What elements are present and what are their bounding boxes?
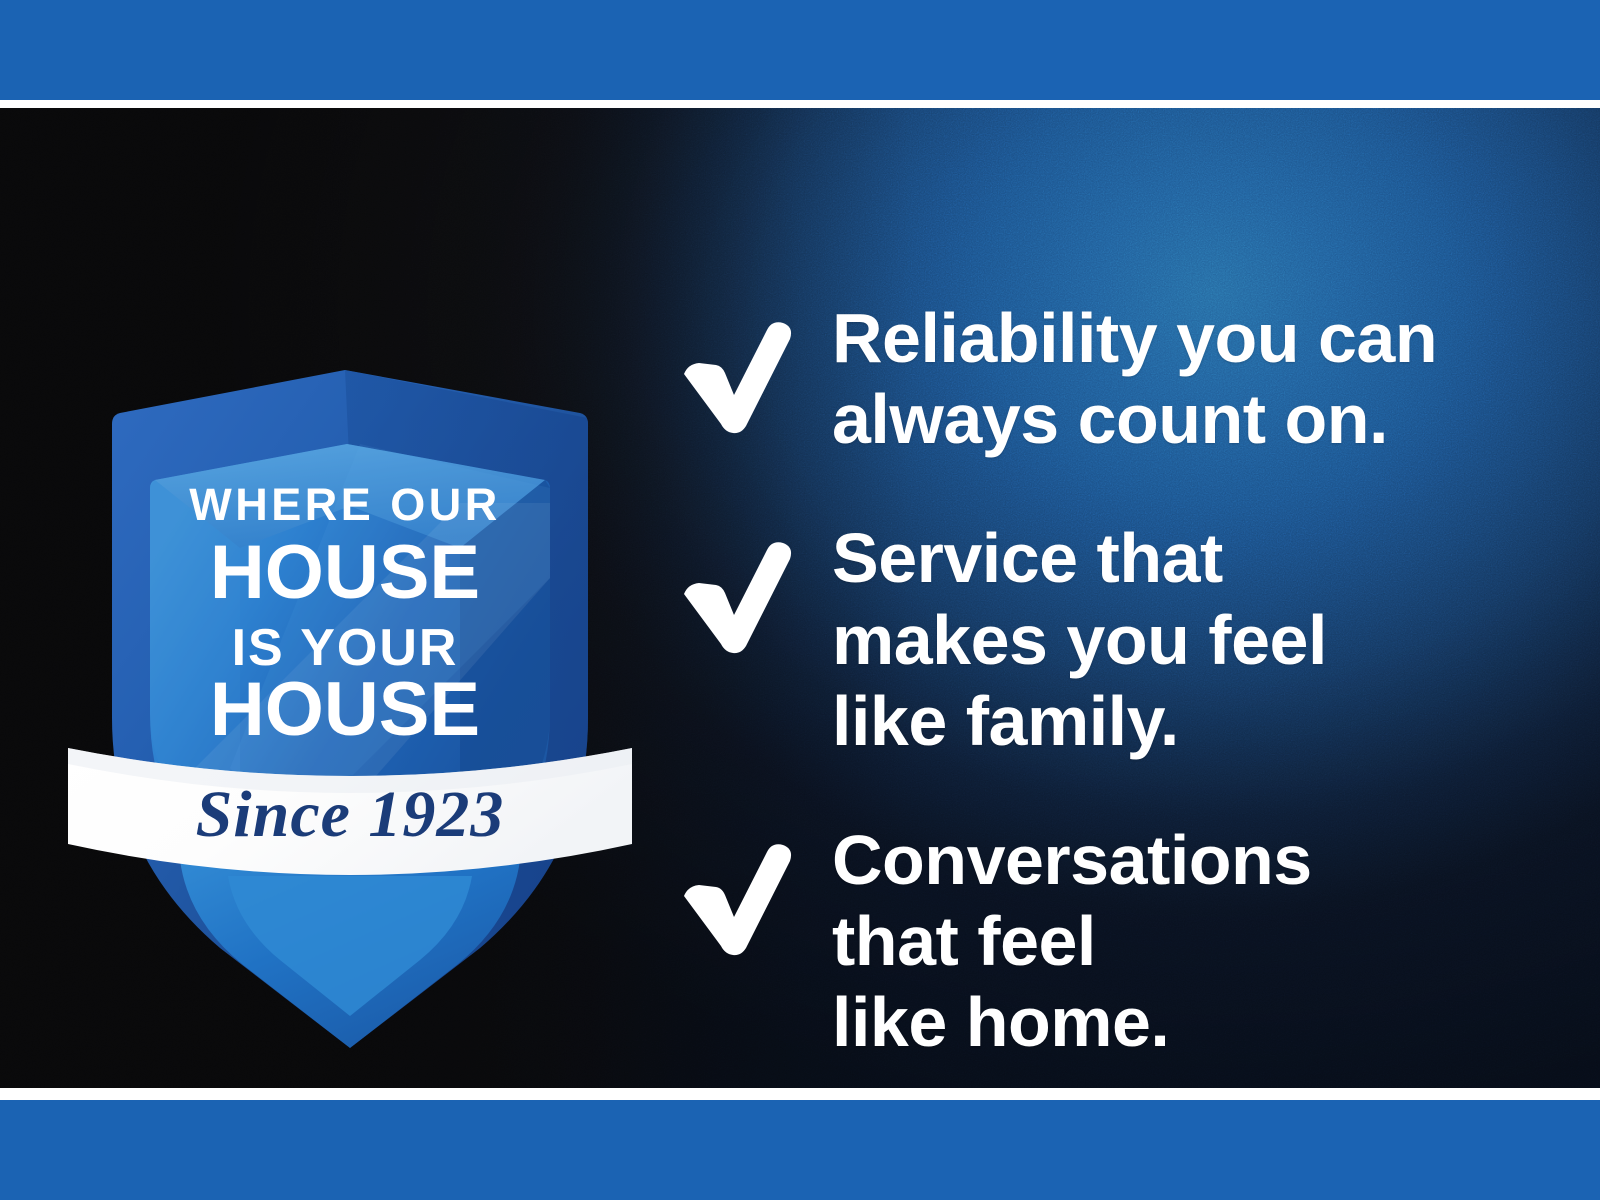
- benefit-text-2: Service that makes you feel like family.: [668, 518, 1548, 762]
- shield-tagline-line4: HOUSE: [210, 667, 480, 752]
- benefit-item-2: Service that makes you feel like family.: [668, 518, 1548, 762]
- checkmark-icon: [668, 536, 800, 654]
- benefit-item-3: Conversations that feel like home.: [668, 820, 1548, 1064]
- benefit-text-1: Reliability you can always count on.: [668, 298, 1548, 460]
- checkmark-icon: [668, 838, 800, 956]
- company-shield-logo: WHERE OUR HOUSE IS YOUR HOUSE Since 1923: [60, 248, 640, 1068]
- checkmark-icon: [668, 316, 800, 434]
- main-stage: WHERE OUR HOUSE IS YOUR HOUSE Since 1923: [0, 108, 1600, 1088]
- benefit-text-3: Conversations that feel like home.: [668, 820, 1548, 1064]
- shield-lower-point: [180, 860, 520, 1048]
- promo-graphic: WHERE OUR HOUSE IS YOUR HOUSE Since 1923: [0, 0, 1600, 1200]
- top-brand-band: [0, 0, 1600, 100]
- shield-tagline-line1: WHERE OUR: [189, 479, 501, 530]
- benefits-list: Reliability you can always count on. Ser…: [668, 298, 1548, 1064]
- since-ribbon-text: Since 1923: [196, 778, 505, 851]
- shield-tagline-line2: HOUSE: [210, 530, 480, 615]
- benefit-item-1: Reliability you can always count on.: [668, 298, 1548, 460]
- bottom-brand-band: [0, 1100, 1600, 1200]
